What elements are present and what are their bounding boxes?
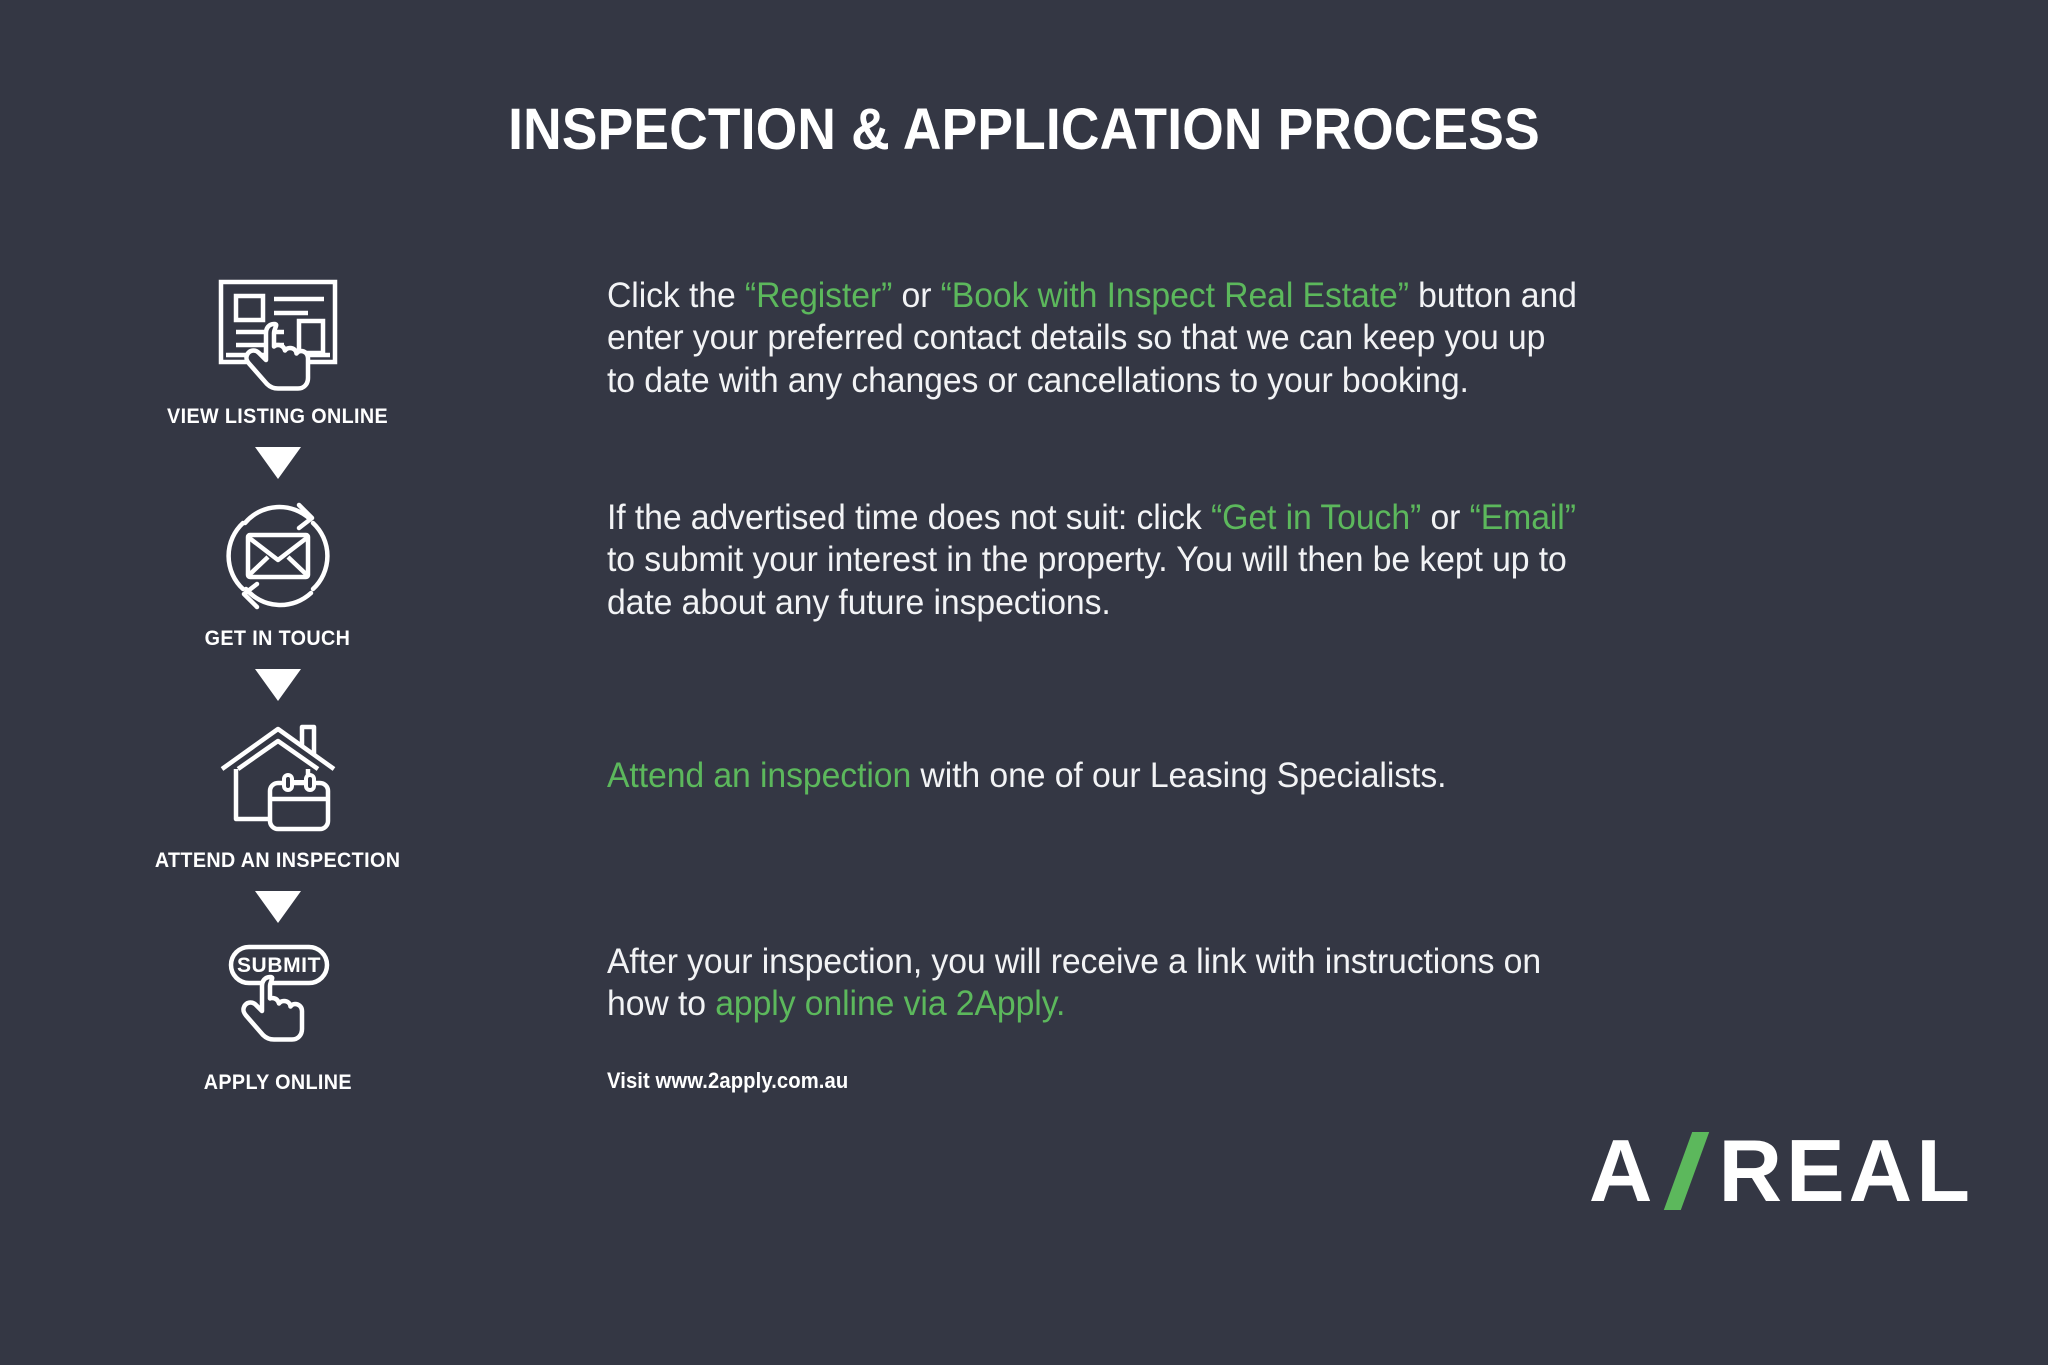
visit-url-line: Visit www.2apply.com.au	[607, 1068, 1822, 1094]
copy-segment: or	[892, 276, 940, 315]
step-body-attend-an-inspection: Attend an inspection with one of our Lea…	[555, 719, 2048, 797]
step-copy: Click the “Register” or “Book with Inspe…	[607, 275, 1582, 402]
process-step-view-listing-online: VIEW LISTING ONLINE Click the “Register”…	[0, 275, 2048, 429]
step-icon-column: ATTEND AN INSPECTION	[0, 719, 555, 873]
logo-letter-a: A	[1589, 1127, 1657, 1215]
step-body-view-listing-online: Click the “Register” or “Book with Inspe…	[555, 275, 2048, 402]
process-step-attend-an-inspection: ATTEND AN INSPECTION Attend an inspectio…	[0, 719, 2048, 873]
step-label-view-listing-online: VIEW LISTING ONLINE	[167, 405, 388, 429]
step-copy: Attend an inspection with one of our Lea…	[607, 719, 1582, 797]
copy-highlight-book-with-inspect-real-estate: “Book with Inspect Real Estate”	[941, 276, 1409, 315]
submit-button-click-icon: SUBMIT	[203, 941, 353, 1059]
brand-logo: A REAL	[1589, 1127, 1974, 1215]
copy-highlight-register: “Register”	[745, 276, 892, 315]
copy-segment: to submit your interest in the property.…	[607, 540, 1567, 621]
step-label-apply-online: APPLY ONLINE	[203, 1071, 351, 1095]
copy-highlight-get-in-touch: “Get in Touch”	[1211, 498, 1421, 537]
copy-segment: Click the	[607, 276, 745, 315]
triangle-down-icon	[255, 447, 301, 479]
step-label-attend-an-inspection: ATTEND AN INSPECTION	[155, 849, 401, 873]
step-body-get-in-touch: If the advertised time does not suit: cl…	[555, 497, 2048, 624]
step-icon-column: GET IN TOUCH	[0, 497, 555, 651]
step-icon-column: SUBMIT APPLY ONLINE	[0, 941, 555, 1095]
triangle-down-icon	[255, 669, 301, 701]
flow-arrow-3	[0, 873, 555, 941]
process-flow: VIEW LISTING ONLINE Click the “Register”…	[0, 275, 2048, 1095]
process-step-apply-online: SUBMIT APPLY ONLINE After your inspectio…	[0, 941, 2048, 1095]
logo-word-real: REAL	[1718, 1127, 1974, 1215]
triangle-down-icon	[255, 891, 301, 923]
email-refresh-icon	[203, 497, 353, 615]
page-title: INSPECTION & APPLICATION PROCESS	[82, 96, 1966, 163]
copy-segment: with one of our Leasing Specialists.	[911, 756, 1446, 795]
step-icon-column: VIEW LISTING ONLINE	[0, 275, 555, 429]
flow-arrow-2	[0, 651, 555, 719]
step-copy: If the advertised time does not suit: cl…	[607, 497, 1582, 624]
house-calendar-icon	[203, 719, 353, 837]
logo-slash-icon	[1666, 1132, 1712, 1210]
step-copy: After your inspection, you will receive …	[607, 941, 1582, 1026]
infographic-root: { "title": "INSPECTION & APPLICATION PRO…	[0, 0, 2048, 1365]
copy-highlight-attend-an-inspection: Attend an inspection	[607, 756, 911, 795]
copy-highlight-apply-online-via-2apply: apply online via 2Apply.	[715, 984, 1065, 1023]
listing-click-icon	[203, 275, 353, 393]
copy-highlight-email: “Email”	[1470, 498, 1576, 537]
svg-text:SUBMIT: SUBMIT	[236, 954, 320, 977]
step-label-get-in-touch: GET IN TOUCH	[205, 627, 351, 651]
flow-arrow-1	[0, 429, 555, 497]
copy-segment: If the advertised time does not suit: cl…	[607, 498, 1211, 537]
process-step-get-in-touch: GET IN TOUCH If the advertised time does…	[0, 497, 2048, 651]
step-body-apply-online: After your inspection, you will receive …	[555, 941, 2048, 1094]
copy-segment: or	[1421, 498, 1469, 537]
